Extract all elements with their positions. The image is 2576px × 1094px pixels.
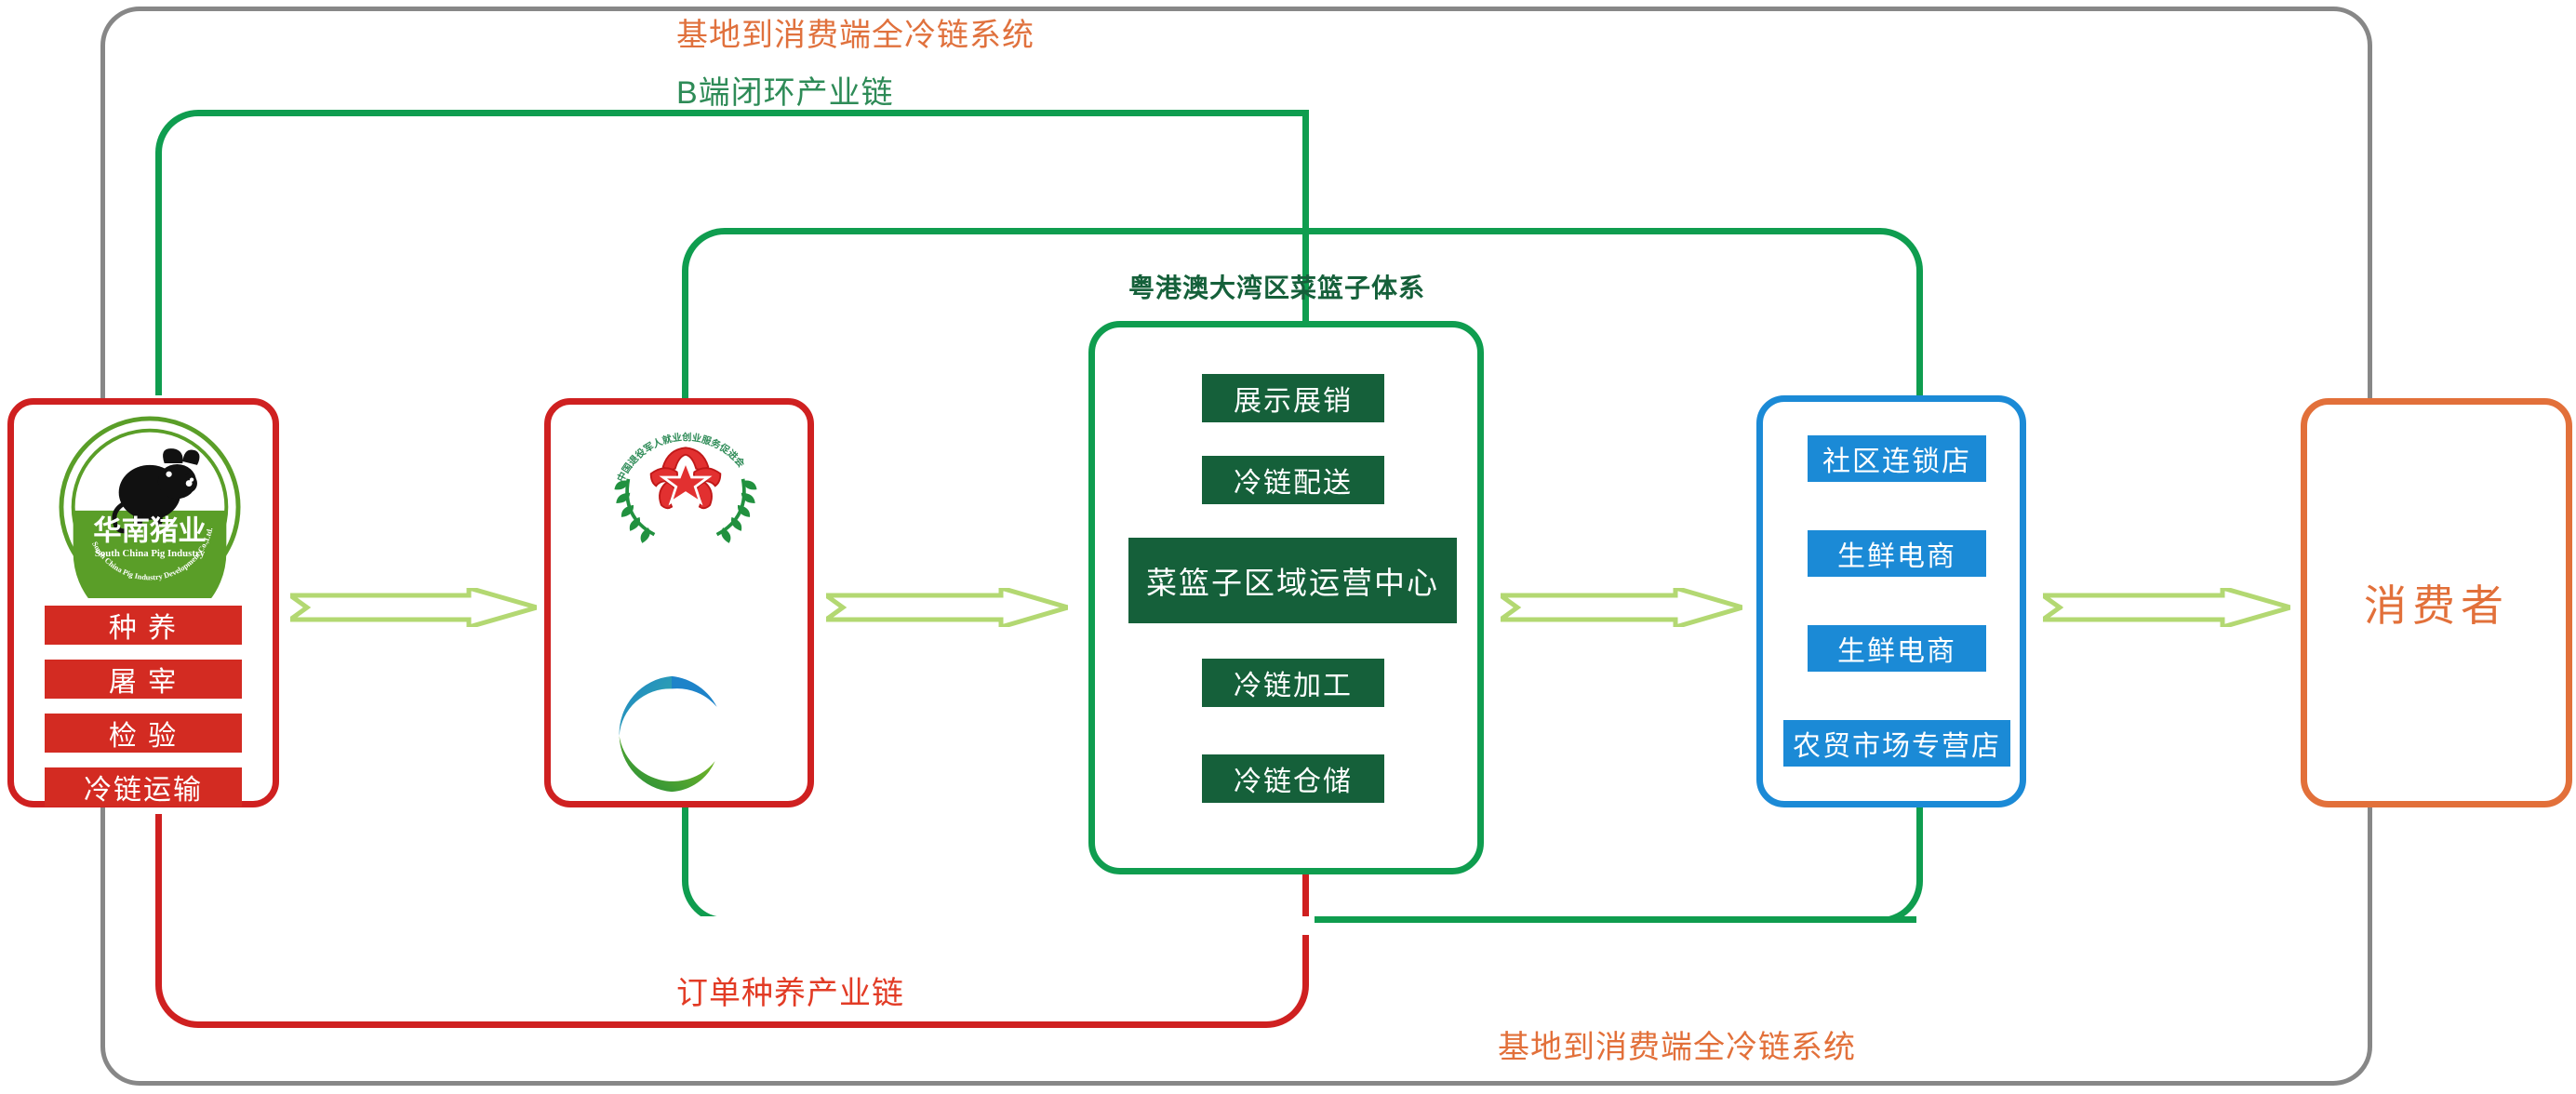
card-certification[interactable]: 中国退役军人就业创业服务促进会: [544, 398, 814, 807]
chip-production-3[interactable]: 冷链运输: [45, 767, 242, 807]
arrow-retail-to-consumer: [2043, 588, 2290, 627]
arrow-bayarea-to-retail: [1501, 588, 1742, 627]
title-bottom-full-cold-chain: 基地到消费端全冷链系统: [1498, 1021, 1856, 1067]
south-china-pig-industry-logo: 华南猪业 South China Pig Industry South Chin…: [59, 416, 241, 598]
label-bay-area-system: 粤港澳大湾区菜篮子体系: [1128, 268, 1425, 305]
diagram-canvas: 基地到消费端全冷链系统 基地到消费端全冷链系统 B端闭环产业链 粤港澳大湾区菜篮…: [0, 0, 2576, 1094]
gba-logo-text-en: Guangdong-Hong Kong-Macao Greater Bay Ar…: [626, 743, 732, 749]
chip-production-2[interactable]: 检 验: [45, 714, 242, 753]
chip-retail-1[interactable]: 生鲜电商: [1808, 530, 1986, 577]
card-production[interactable]: 华南猪业 South China Pig Industry South Chin…: [7, 398, 279, 807]
chip-retail-2[interactable]: 生鲜电商: [1808, 625, 1986, 672]
chip-bayarea-2-regional-operation-center[interactable]: 菜篮子区域运营中心: [1128, 538, 1457, 623]
logo-name-cn: 华南猪业: [93, 514, 207, 546]
chip-production-0[interactable]: 种 养: [45, 606, 242, 645]
arrow-certification-to-bayarea: [826, 588, 1068, 627]
label-b-end-closed-loop: B端闭环产业链: [676, 67, 894, 113]
chip-bayarea-0[interactable]: 展示展销: [1202, 374, 1384, 422]
chip-bayarea-4[interactable]: 冷链仓储: [1202, 754, 1384, 803]
label-consumer: 消费者: [2364, 572, 2509, 634]
card-bay-area-system[interactable]: 展示展销 冷链配送 菜篮子区域运营中心 冷链加工 冷链仓储: [1088, 321, 1484, 874]
chip-bayarea-1[interactable]: 冷链配送: [1202, 456, 1384, 504]
frame-b-end-closed-loop-topfill: [155, 110, 1309, 153]
label-order-farming-chain: 订单种养产业链: [676, 967, 904, 1013]
chip-retail-3[interactable]: 农贸市场专营店: [1783, 720, 2010, 767]
chip-production-1[interactable]: 屠 宰: [45, 660, 242, 699]
card-consumer[interactable]: 消费者: [2301, 398, 2572, 807]
veterans-association-logo: 中国退役军人就业创业服务促进会: [597, 425, 774, 555]
title-top-full-cold-chain: 基地到消费端全冷链系统: [676, 9, 1034, 55]
mask-red-frame-top-right: [682, 916, 1315, 935]
card-retail[interactable]: 社区连锁店 生鲜电商 生鲜电商 农贸市场专营店: [1756, 395, 2026, 807]
chip-bayarea-3[interactable]: 冷链加工: [1202, 659, 1384, 707]
arrow-production-to-certification: [290, 588, 537, 627]
chip-retail-0[interactable]: 社区连锁店: [1808, 435, 1986, 482]
greater-bay-area-vegetable-basket-logo: 粤港澳大湾区“菜篮子” Guangdong-Hong Kong-Macao Gr…: [608, 671, 735, 797]
logo-name-en: South China Pig Industry: [95, 548, 206, 559]
gba-logo-text-cn: 粤港澳大湾区“菜篮子”: [629, 728, 728, 740]
